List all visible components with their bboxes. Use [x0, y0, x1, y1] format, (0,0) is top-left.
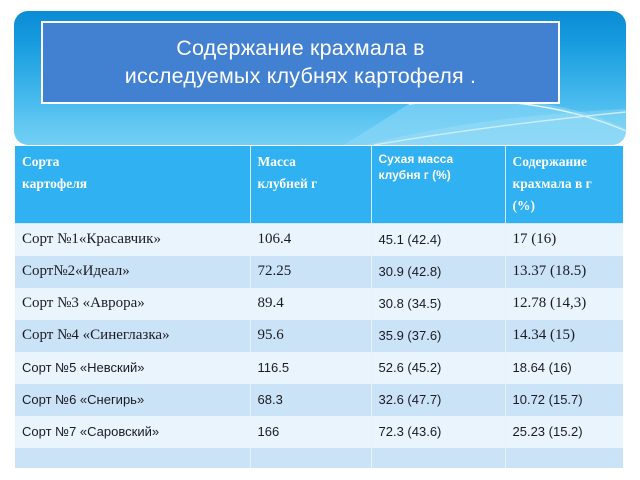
slide-title-box: Содержание крахмала в исследуемых клубня…: [41, 21, 560, 104]
cell-dry-mass: 52.6 (45.2): [371, 352, 505, 384]
cell-variety: Сорт №6 «Снегирь»: [15, 384, 250, 416]
table-row: Сорт №3 «Аврора» 89.4 30.8 (34.5) 12.78 …: [15, 288, 623, 320]
cell-tuber-mass: 68.3: [250, 384, 371, 416]
cell-dry-mass: 45.1 (42.4): [371, 223, 505, 256]
cell-tuber-mass: 72.25: [250, 256, 371, 288]
column-header-starch-content: Содержание крахмала в г (%): [505, 146, 623, 223]
table-row: Сорт №1«Красавчик» 106.4 45.1 (42.4) 17 …: [15, 223, 623, 256]
cell-tuber-mass: 116.5: [250, 352, 371, 384]
cell-starch: 13.37 (18.5): [505, 256, 623, 288]
cell-dry-mass: 32.6 (47.7): [371, 384, 505, 416]
table-row: Сорт №5 «Невский» 116.5 52.6 (45.2) 18.6…: [15, 352, 623, 384]
cell-dry-mass: 30.8 (34.5): [371, 288, 505, 320]
cell-variety: Сорт №4 «Синеглазка»: [15, 320, 250, 352]
cell-tuber-mass: 166: [250, 416, 371, 448]
cell-variety: Сорт №7 «Саровский»: [15, 416, 250, 448]
cell-tuber-mass: 95.6: [250, 320, 371, 352]
cell-tuber-mass: 106.4: [250, 223, 371, 256]
spacer-cell: [15, 448, 250, 468]
slide-canvas: Содержание крахмала в исследуемых клубня…: [0, 0, 640, 480]
cell-dry-mass: 30.9 (42.8): [371, 256, 505, 288]
cell-starch: 17 (16): [505, 223, 623, 256]
cell-starch: 14.34 (15): [505, 320, 623, 352]
spacer-cell: [371, 448, 505, 468]
cell-variety: Сорт №3 «Аврора»: [15, 288, 250, 320]
cell-variety: Сорт №1«Красавчик»: [15, 223, 250, 256]
table-container: Сорта картофеля Масса клубней г Сухая ма…: [15, 146, 623, 468]
table-row: Сорт №6 «Снегирь» 68.3 32.6 (47.7) 10.72…: [15, 384, 623, 416]
potato-starch-table: Сорта картофеля Масса клубней г Сухая ма…: [15, 146, 623, 468]
cell-dry-mass: 35.9 (37.6): [371, 320, 505, 352]
column-header-tuber-mass: Масса клубней г: [250, 146, 371, 223]
cell-tuber-mass: 89.4: [250, 288, 371, 320]
cell-starch: 25.23 (15.2): [505, 416, 623, 448]
cell-dry-mass: 72.3 (43.6): [371, 416, 505, 448]
table-header-row: Сорта картофеля Масса клубней г Сухая ма…: [15, 146, 623, 223]
cell-variety: Сорт№2«Идеал»: [15, 256, 250, 288]
column-header-variety: Сорта картофеля: [15, 146, 250, 223]
cell-starch: 12.78 (14,3): [505, 288, 623, 320]
cell-starch: 10.72 (15.7): [505, 384, 623, 416]
spacer-cell: [250, 448, 371, 468]
cell-variety: Сорт №5 «Невский»: [15, 352, 250, 384]
spacer-cell: [505, 448, 623, 468]
cell-starch: 18.64 (16): [505, 352, 623, 384]
table-footer-spacer: [15, 448, 623, 468]
table-row: Сорт№2«Идеал» 72.25 30.9 (42.8) 13.37 (1…: [15, 256, 623, 288]
column-header-dry-mass: Сухая масса клубня г (%): [371, 146, 505, 223]
table-row: Сорт №7 «Саровский» 166 72.3 (43.6) 25.2…: [15, 416, 623, 448]
page-title: Содержание крахмала в исследуемых клубня…: [125, 35, 476, 91]
table-row: Сорт №4 «Синеглазка» 95.6 35.9 (37.6) 14…: [15, 320, 623, 352]
